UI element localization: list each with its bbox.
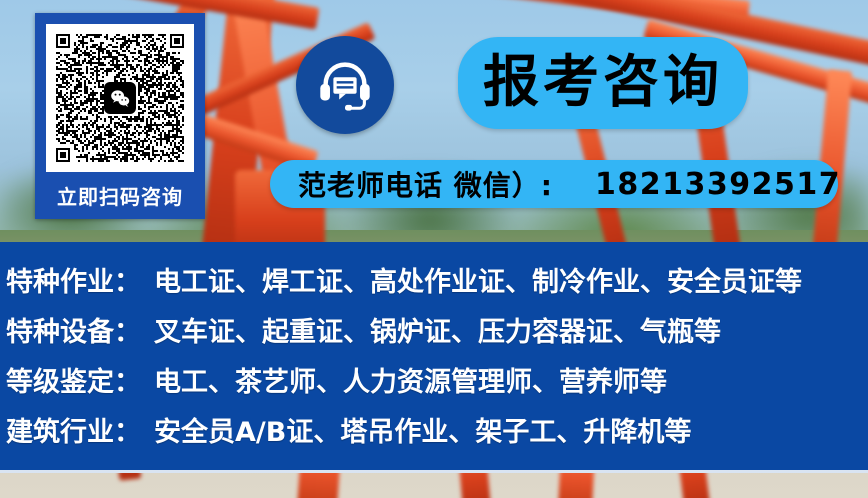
category-label: 等级鉴定： — [6, 358, 154, 408]
category-row: 等级鉴定： 电工、茶艺师、人力资源管理师、营养师等 — [6, 358, 868, 408]
contact-phone-pill[interactable]: 范老师电话 微信）: 18213392517 — [270, 160, 838, 208]
category-row: 特种作业： 电工证、焊工证、高处作业证、制冷作业、安全员证等 — [6, 258, 868, 308]
category-row: 特种设备： 叉车证、起重证、锅炉证、压力容器证、气瓶等 — [6, 308, 868, 358]
category-items: 叉车证、起重证、锅炉证、压力容器证、气瓶等 — [154, 308, 721, 358]
contact-label: 范老师电话 微信）: — [298, 164, 553, 204]
panel-underline — [0, 470, 868, 473]
category-label: 特种作业： — [6, 258, 154, 308]
qr-code-card[interactable]: 立即扫码咨询 — [35, 13, 205, 219]
title-pill: 报考咨询 — [458, 37, 748, 129]
category-row: 建筑行业： 安全员A/B证、塔吊作业、架子工、升降机等 — [6, 408, 868, 458]
category-items: 电工证、焊工证、高处作业证、制冷作业、安全员证等 — [154, 258, 802, 308]
category-label: 特种设备： — [6, 308, 154, 358]
category-items: 电工、茶艺师、人力资源管理师、营养师等 — [154, 358, 667, 408]
category-items: 安全员A/B证、塔吊作业、架子工、升降机等 — [154, 408, 691, 458]
promo-poster: 立即扫码咨询 报考咨询 范老师电话 微信）: 18213392517 特种作业：… — [0, 0, 868, 498]
headset-support-icon — [296, 36, 394, 134]
category-label: 建筑行业： — [6, 408, 154, 458]
certificate-categories-panel: 特种作业： 电工证、焊工证、高处作业证、制冷作业、安全员证等 特种设备： 叉车证… — [0, 242, 868, 470]
qr-code-image[interactable] — [46, 24, 194, 172]
phone-number[interactable]: 18213392517 — [595, 167, 841, 202]
wechat-icon — [104, 82, 136, 114]
title-text: 报考咨询 — [483, 55, 723, 111]
qr-card-label: 立即扫码咨询 — [38, 182, 202, 212]
